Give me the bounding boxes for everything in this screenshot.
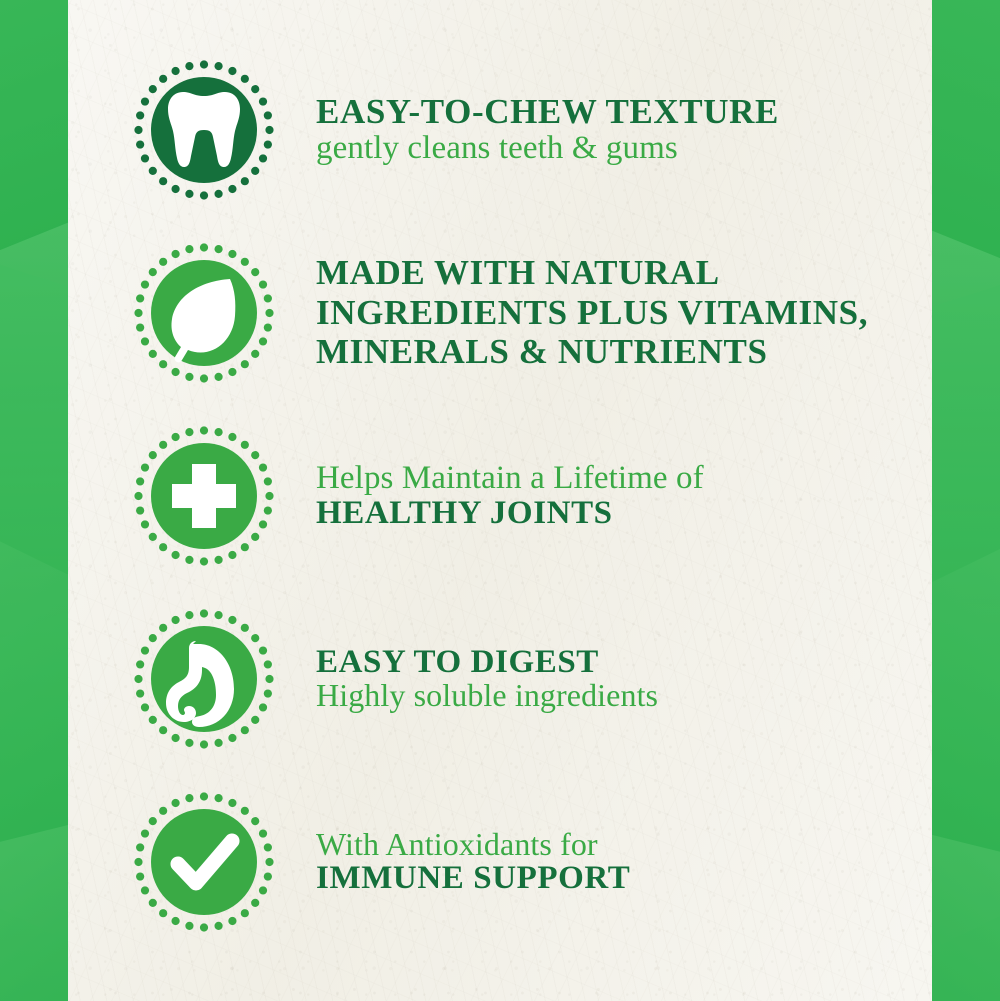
- feature-light-line: Helps Maintain a Lifetime of: [316, 461, 704, 495]
- feature-item-healthy-joints: Helps Maintain a Lifetime of HEALTHY JOI…: [68, 404, 932, 587]
- tooth-icon: [130, 56, 278, 204]
- feature-list: EASY-TO-CHEW TEXTURE gently cleans teeth…: [68, 0, 932, 1001]
- stomach-icon: [130, 605, 278, 753]
- leaf-icon: [130, 239, 278, 387]
- checkmark-badge: [130, 788, 278, 936]
- checkmark-icon: [130, 788, 278, 936]
- plus-cross-badge: [130, 422, 278, 570]
- feature-bold-line-3: MINERALS & NUTRIENTS: [316, 332, 868, 372]
- right-green-border: [932, 0, 1000, 1001]
- leaf-badge: [130, 239, 278, 387]
- feature-light-line: gently cleans teeth & gums: [316, 131, 779, 165]
- feature-text-block: Helps Maintain a Lifetime of HEALTHY JOI…: [316, 461, 704, 530]
- feature-item-easy-to-digest: EASY TO DIGEST Highly soluble ingredient…: [68, 587, 932, 770]
- feature-text-block: With Antioxidants for IMMUNE SUPPORT: [316, 828, 630, 896]
- stomach-badge: [130, 605, 278, 753]
- feature-bold-line: HEALTHY JOINTS: [316, 496, 704, 530]
- feature-text-block: MADE WITH NATURAL INGREDIENTS PLUS VITAM…: [316, 253, 868, 373]
- feature-bold-line-2: INGREDIENTS PLUS VITAMINS,: [316, 293, 868, 333]
- product-benefits-panel: EASY-TO-CHEW TEXTURE gently cleans teeth…: [0, 0, 1000, 1001]
- feature-light-line: Highly soluble ingredients: [316, 679, 658, 712]
- feature-item-easy-to-chew: EASY-TO-CHEW TEXTURE gently cleans teeth…: [68, 38, 932, 221]
- plus-cross-icon: [130, 422, 278, 570]
- feature-text-block: EASY TO DIGEST Highly soluble ingredient…: [316, 645, 658, 713]
- feature-item-natural-ingredients: MADE WITH NATURAL INGREDIENTS PLUS VITAM…: [68, 221, 932, 404]
- left-green-border: [0, 0, 68, 1001]
- feature-bold-line: EASY-TO-CHEW TEXTURE: [316, 94, 779, 130]
- feature-bold-line-1: MADE WITH NATURAL: [316, 253, 868, 293]
- feature-text-block: EASY-TO-CHEW TEXTURE gently cleans teeth…: [316, 94, 779, 165]
- feature-bold-line: EASY TO DIGEST: [316, 645, 658, 679]
- feature-item-immune-support: With Antioxidants for IMMUNE SUPPORT: [68, 770, 932, 953]
- feature-bold-line: IMMUNE SUPPORT: [316, 861, 630, 895]
- feature-light-line: With Antioxidants for: [316, 828, 630, 861]
- tooth-badge: [130, 56, 278, 204]
